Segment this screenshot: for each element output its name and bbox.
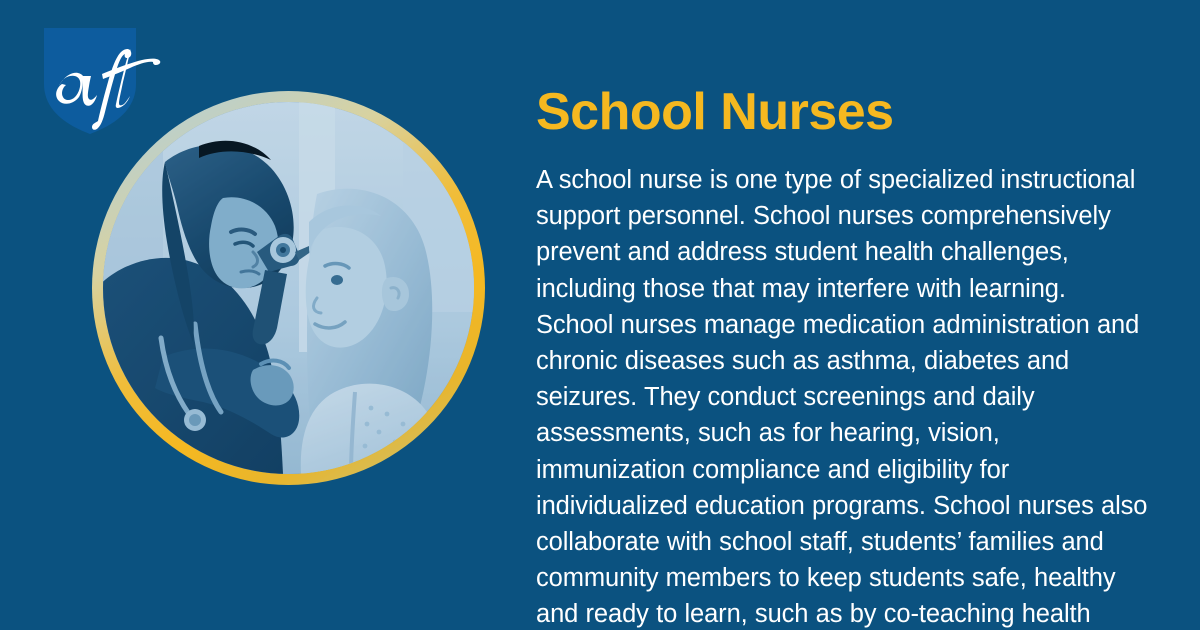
poster-canvas: School Nurses A school nurse is one type… [0, 0, 1200, 630]
aft-logo [42, 26, 137, 136]
content-column: School Nurses A school nurse is one type… [536, 83, 1150, 630]
photo-ring [92, 91, 485, 485]
school-nurse-photo [103, 102, 474, 474]
page-title: School Nurses [536, 83, 1150, 141]
body-paragraph: A school nurse is one type of specialize… [536, 141, 1150, 630]
